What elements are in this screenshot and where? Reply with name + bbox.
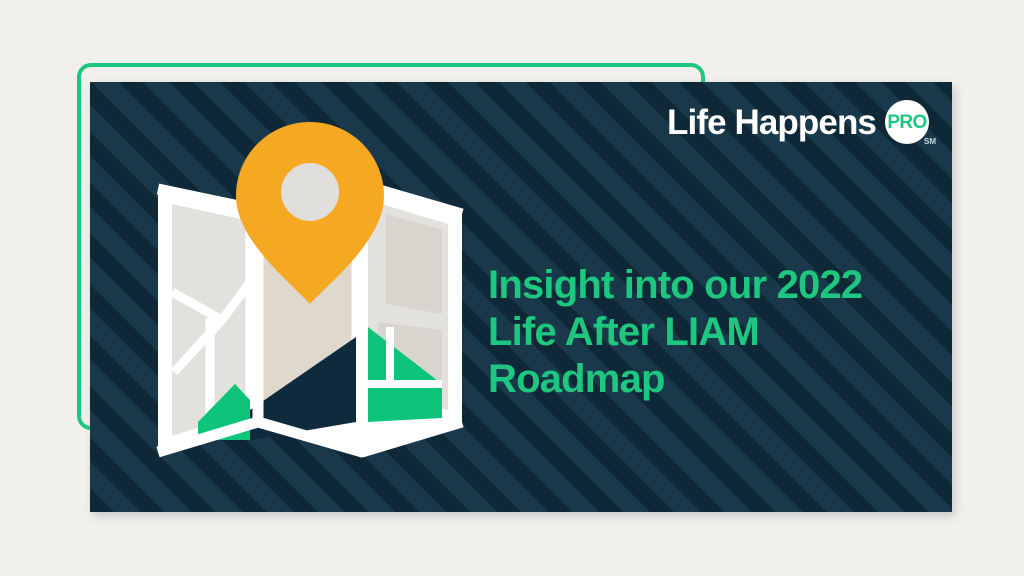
headline-line-3: Roadmap	[488, 356, 918, 403]
slide-canvas: Life Happens PRO SM Insight into our 202…	[0, 0, 1024, 576]
service-mark-label: SM	[924, 138, 936, 146]
brand-pro-badge-wrap: PRO SM	[885, 100, 929, 144]
brand-wordmark: Life Happens	[667, 105, 876, 140]
headline-block: Insight into our 2022 Life After LIAM Ro…	[488, 262, 918, 403]
pro-badge-icon: PRO	[885, 100, 929, 144]
headline-line-1: Insight into our 2022	[488, 262, 918, 309]
pro-badge-label: PRO	[887, 113, 926, 132]
map-block-right-upper	[386, 214, 442, 314]
brand-logo: Life Happens PRO SM	[667, 100, 929, 144]
hero-card: Life Happens PRO SM Insight into our 202…	[90, 82, 952, 512]
headline-line-2: Life After LIAM	[488, 309, 918, 356]
folded-map-illustration	[150, 122, 470, 467]
